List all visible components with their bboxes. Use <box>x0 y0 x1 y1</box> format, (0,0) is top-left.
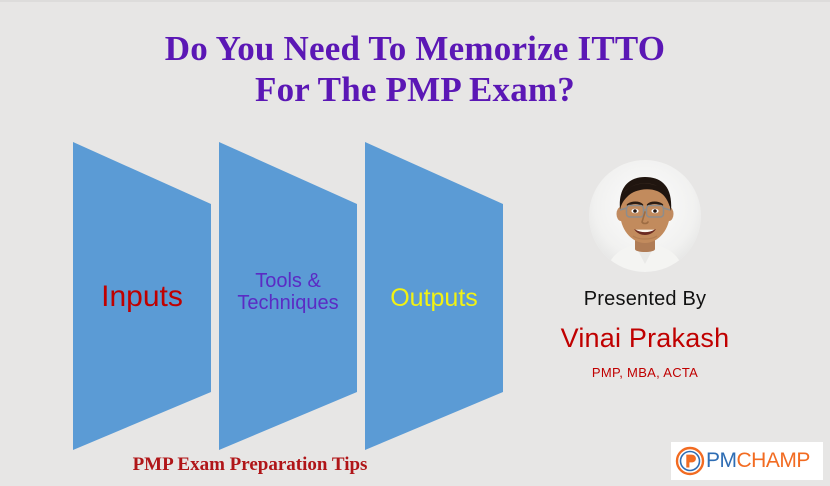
pmchamp-logo-text: PMCHAMP <box>706 449 810 473</box>
flow-step-inputs[interactable]: Inputs <box>73 142 223 452</box>
presenter-credentials: PMP, MBA, ACTA <box>520 365 770 380</box>
page-title: Do You Need To Memorize ITTO For The PMP… <box>0 28 830 111</box>
chevron-shape-icon <box>219 142 369 452</box>
pmchamp-logo[interactable]: PMCHAMP <box>671 442 823 480</box>
chevron-shape-icon <box>73 142 223 452</box>
flow-step-outputs[interactable]: Outputs <box>365 142 515 452</box>
presenter-block: Presented By Vinai Prakash PMP, MBA, ACT… <box>520 160 770 380</box>
chevron-shape-icon <box>365 142 515 452</box>
avatar <box>589 160 701 272</box>
logo-text-champ: CHAMP <box>737 449 810 472</box>
flow-step-tools-techniques[interactable]: Tools & Techniques <box>219 142 369 452</box>
title-line-1: Do You Need To Memorize ITTO <box>0 28 830 69</box>
presenter-name: Vinai Prakash <box>520 323 770 354</box>
slide-canvas: Do You Need To Memorize ITTO For The PMP… <box>0 0 830 486</box>
title-line-2: For The PMP Exam? <box>0 69 830 110</box>
itto-process-flow: Inputs Tools & Techniques Outputs <box>0 142 540 458</box>
presenter-headshot-photo <box>589 160 701 272</box>
pmchamp-circle-p-icon <box>675 446 705 476</box>
logo-text-pm: PM <box>706 449 737 472</box>
slide-caption: PMP Exam Preparation Tips <box>60 454 440 476</box>
presented-by-label: Presented By <box>520 288 770 311</box>
